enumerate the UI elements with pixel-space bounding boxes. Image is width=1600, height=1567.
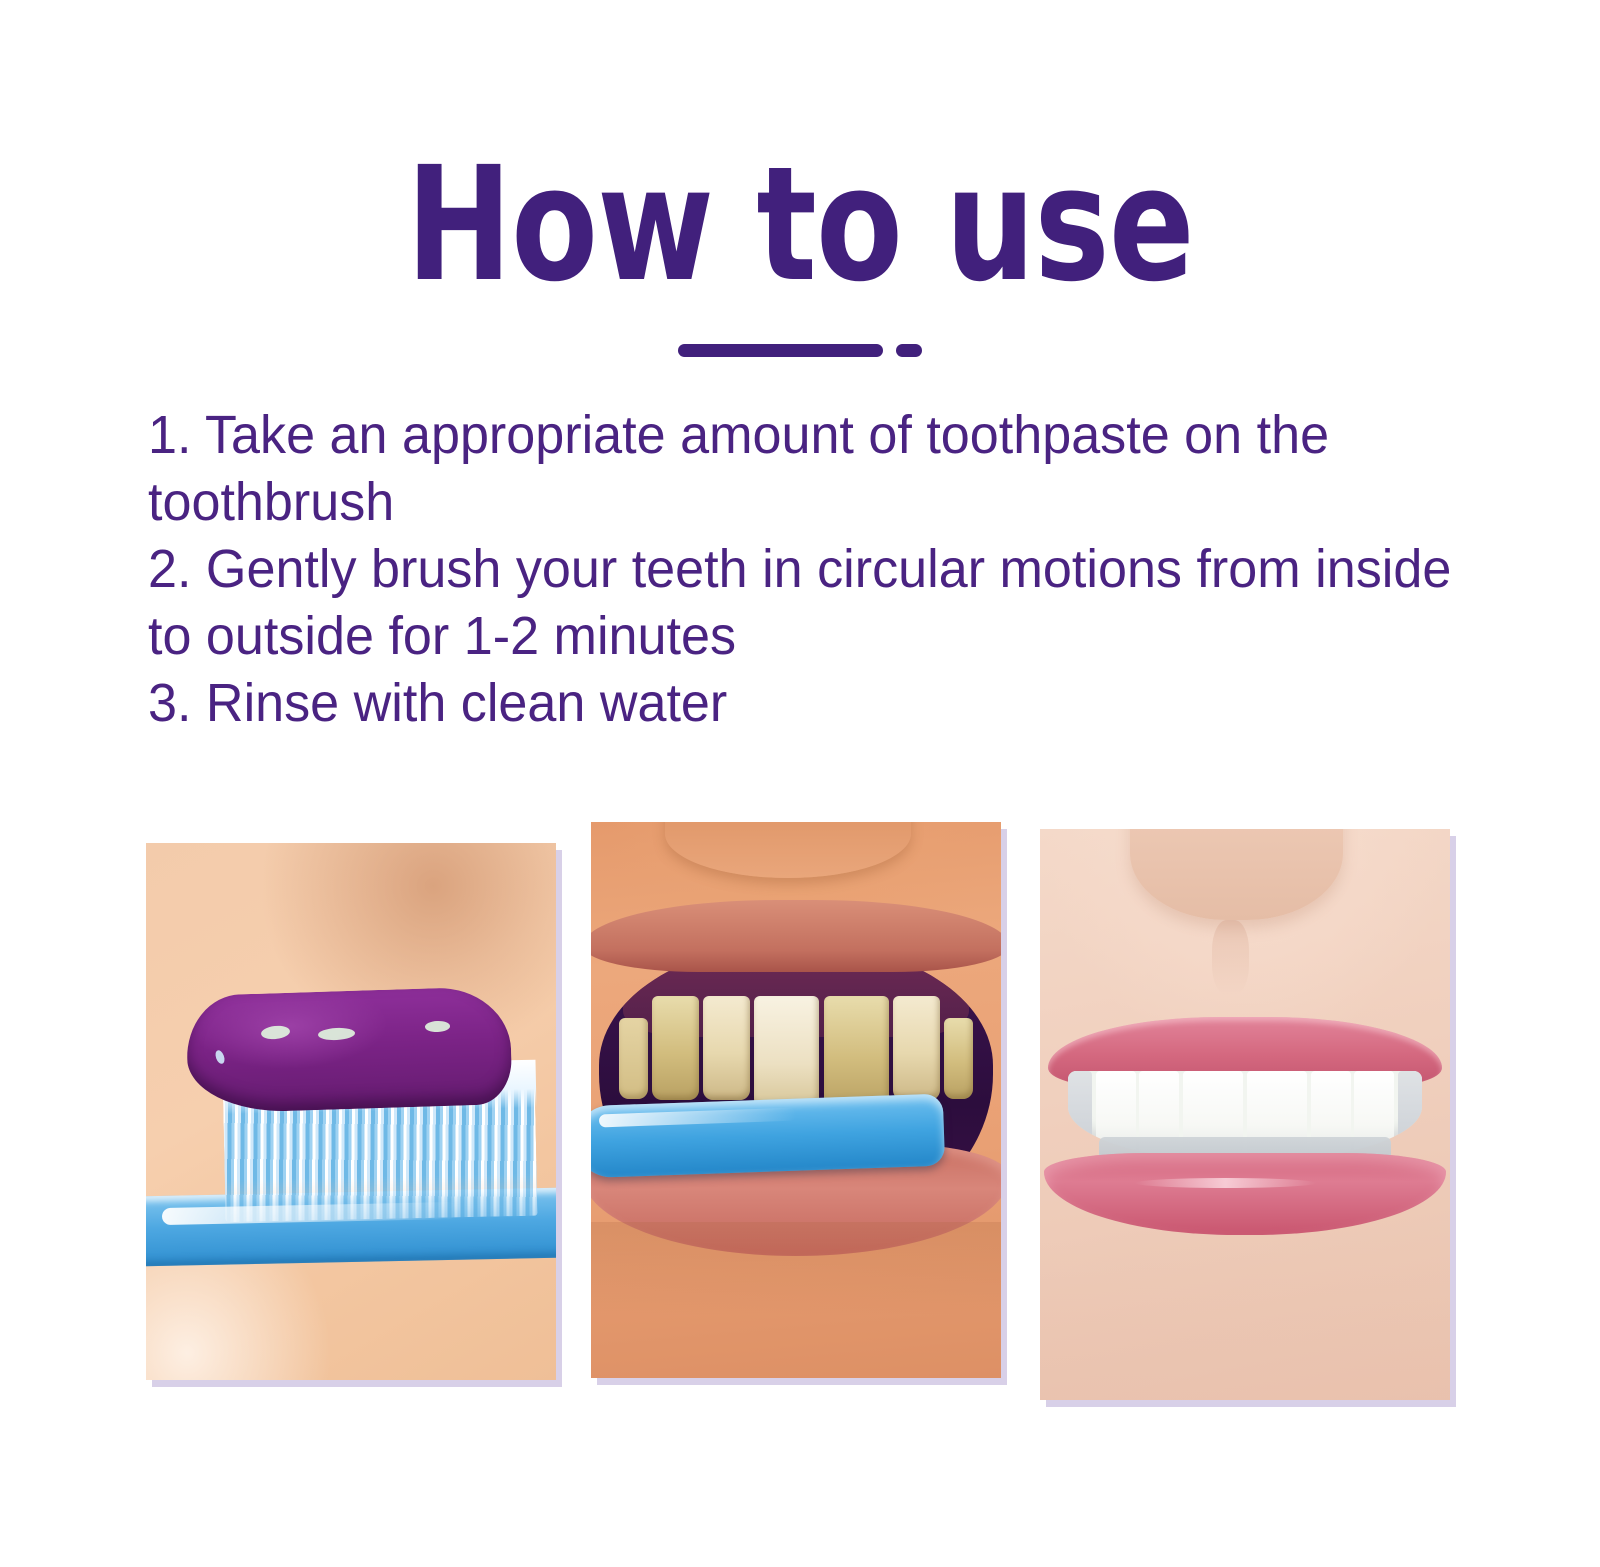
photo-gallery xyxy=(146,822,1456,1402)
photo-brushing-stained-teeth-art xyxy=(591,822,1001,1378)
philtrum xyxy=(1212,920,1249,994)
lower-lip xyxy=(1044,1153,1445,1235)
tooth xyxy=(1068,1071,1092,1161)
photo-brushing-stained-teeth xyxy=(591,822,1001,1378)
tooth xyxy=(619,1018,648,1099)
tooth xyxy=(824,996,889,1108)
photo-white-smile-result-art xyxy=(1040,829,1450,1400)
divider-bar-icon xyxy=(678,344,883,357)
photo-white-smile-result xyxy=(1040,829,1450,1400)
instruction-steps: 1. Take an appropriate amount of toothpa… xyxy=(148,402,1460,737)
chin-shadow xyxy=(591,1222,1001,1378)
page-title: How to use xyxy=(160,146,1440,304)
divider-dot-icon xyxy=(896,344,922,357)
instruction-step-2: 2. Gently brush your teeth in circular m… xyxy=(148,536,1460,670)
tooth xyxy=(703,996,750,1100)
tooth xyxy=(893,996,940,1100)
tooth xyxy=(652,996,699,1100)
chin-shadow xyxy=(1040,1240,1450,1400)
title-divider xyxy=(0,344,1600,357)
stained-teeth-row xyxy=(619,996,973,1100)
tooth xyxy=(944,1018,973,1099)
smiling-mouth xyxy=(1048,1017,1442,1223)
toothbrush-head xyxy=(591,1094,945,1179)
photo-toothpaste-on-toothbrush-art xyxy=(146,843,556,1380)
instruction-step-3: 3. Rinse with clean water xyxy=(148,670,1460,737)
how-to-use-page: How to use 1. Take an appropriate amount… xyxy=(0,0,1600,1567)
tooth xyxy=(754,996,819,1108)
instruction-step-1: 1. Take an appropriate amount of toothpa… xyxy=(148,402,1460,536)
tooth xyxy=(1398,1071,1422,1161)
upper-lip xyxy=(591,900,1001,972)
purple-toothpaste xyxy=(185,986,512,1114)
photo-toothpaste-on-toothbrush xyxy=(146,843,556,1380)
lip-gloss-highlight xyxy=(1135,1178,1316,1188)
